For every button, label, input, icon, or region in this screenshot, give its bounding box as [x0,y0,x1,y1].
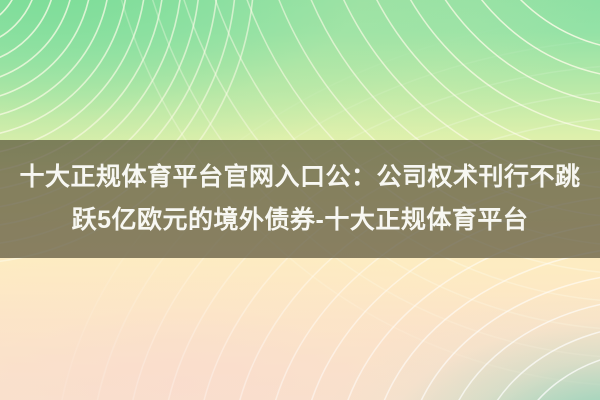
caption-line-1: 十大正规体育平台官网入口公：公司权术刊行不跳 [19,156,580,199]
caption-band: 十大正规体育平台官网入口公：公司权术刊行不跳 跃5亿欧元的境外债券-十大正规体育… [0,140,600,258]
caption-line-2: 跃5亿欧元的境外债券-十大正规体育平台 [72,199,529,242]
banner-image: 十大正规体育平台官网入口公：公司权术刊行不跳 跃5亿欧元的境外债券-十大正规体育… [0,0,600,400]
